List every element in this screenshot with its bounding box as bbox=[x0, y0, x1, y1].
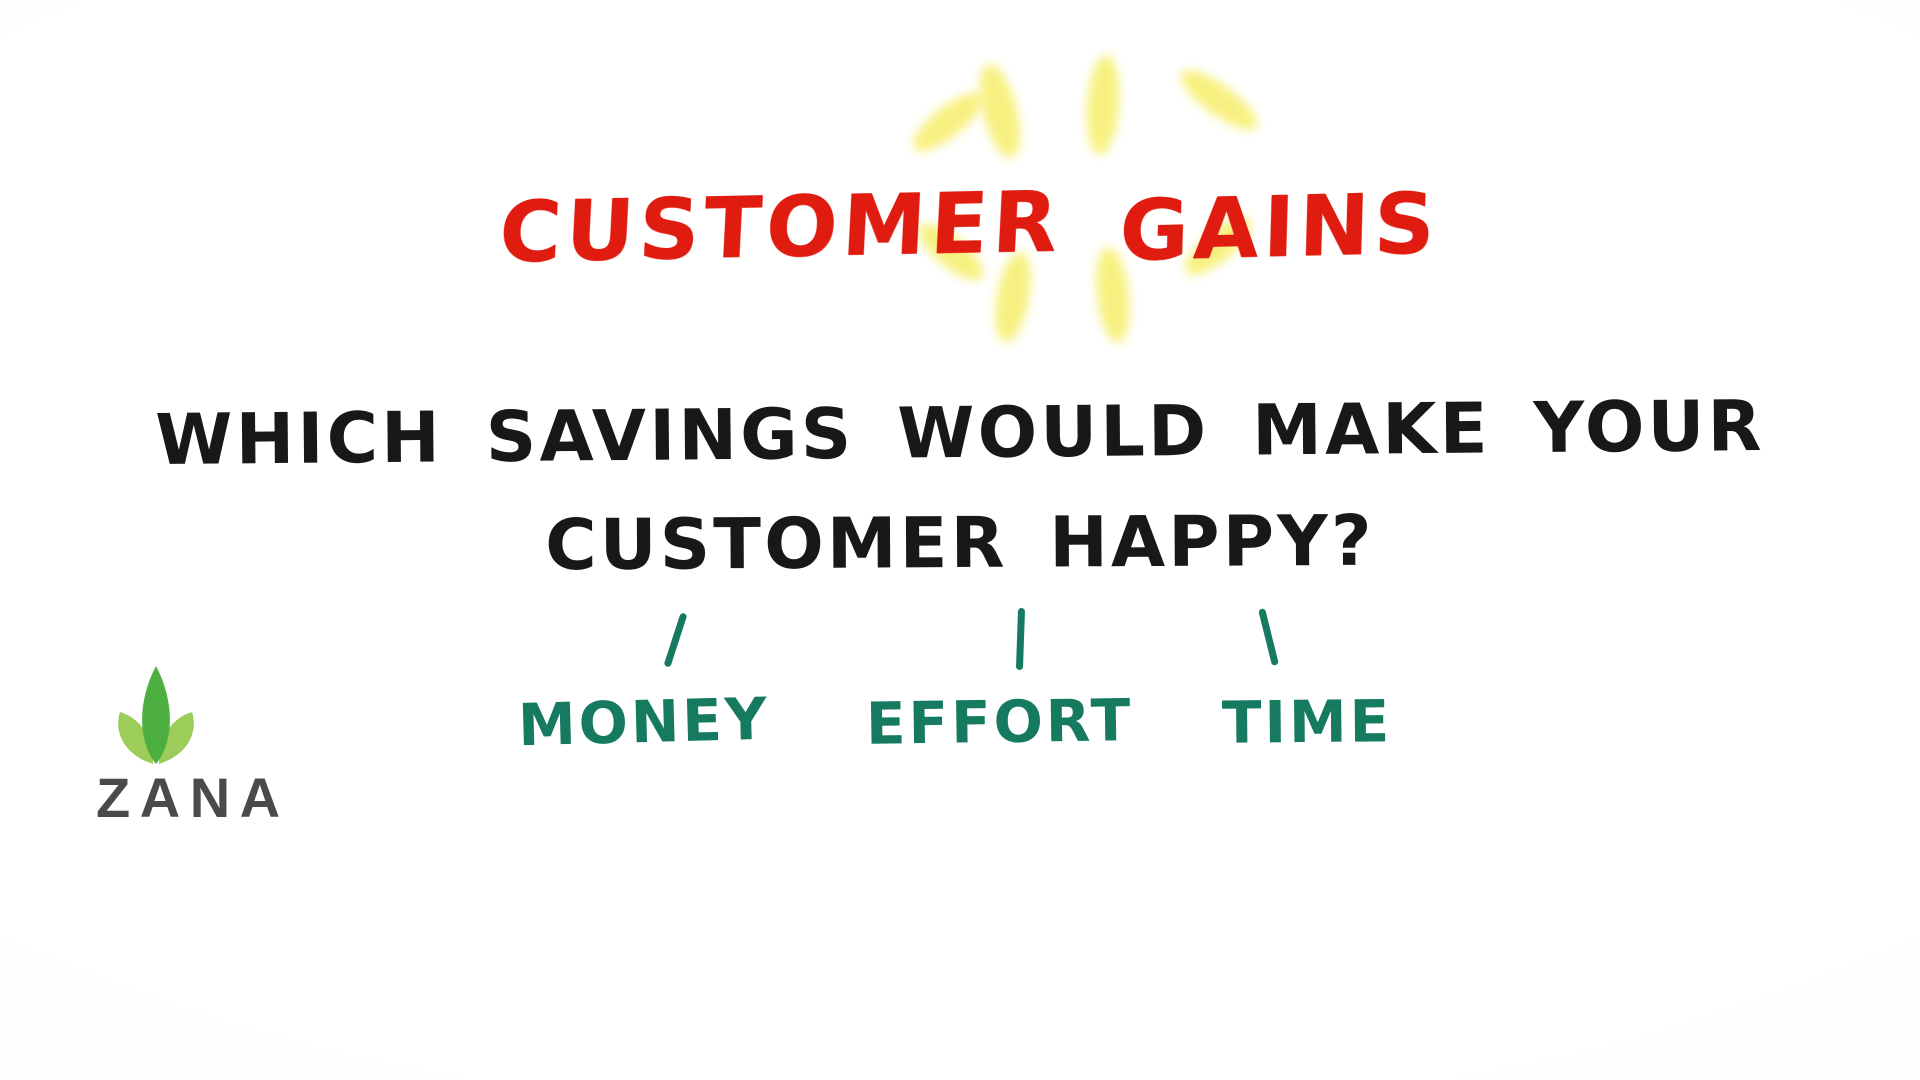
callout-label-money: MONEY bbox=[517, 685, 770, 760]
brand-name: ZANA bbox=[96, 765, 290, 830]
title-word-customer: CUSTOMER bbox=[497, 173, 1064, 282]
question-line-2: CUSTOMER HAPPY? bbox=[0, 497, 1920, 589]
whiteboard-canvas: CUSTOMER GAINS WHICH SAVINGS WOULD MAKE … bbox=[0, 0, 1920, 1080]
page-title: CUSTOMER GAINS bbox=[500, 178, 1439, 288]
leaf-sprout-icon bbox=[106, 660, 216, 770]
question-block: WHICH SAVINGS WOULD MAKE YOUR CUSTOMER H… bbox=[0, 392, 1920, 584]
brand-logo: ZANA bbox=[96, 660, 326, 860]
callout-label-effort: EFFORT bbox=[866, 686, 1134, 758]
title-word-gains: GAINS bbox=[1118, 174, 1440, 280]
callout-label-time: TIME bbox=[1222, 687, 1393, 756]
question-line-1: WHICH SAVINGS WOULD MAKE YOUR bbox=[0, 384, 1920, 483]
